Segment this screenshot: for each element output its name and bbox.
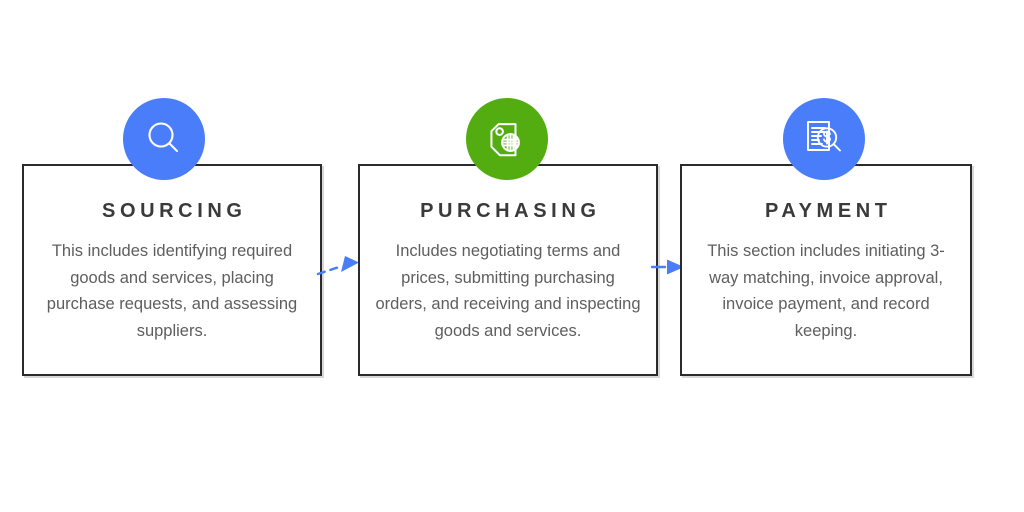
stage-icon-badge-payment: [783, 98, 865, 180]
stage-description: This includes identifying required goods…: [38, 238, 306, 344]
stage-title: PAYMENT: [682, 200, 970, 223]
process-flow-diagram: SOURCING This includes identifying requi…: [0, 0, 1024, 512]
stage-description: Includes negotiating terms and prices, s…: [374, 238, 642, 344]
invoice-search-dollar-icon: [801, 116, 847, 162]
stage-title: SOURCING: [24, 200, 320, 223]
stage-card-sourcing[interactable]: SOURCING This includes identifying requi…: [22, 164, 322, 376]
stage-title: PURCHASING: [360, 200, 656, 223]
stage-icon-badge-purchasing: [466, 98, 548, 180]
stage-icon-badge-sourcing: [123, 98, 205, 180]
stage-card-purchasing[interactable]: PURCHASING Includes negotiating terms an…: [358, 164, 658, 376]
magnifier-icon: [142, 117, 186, 161]
price-tag-icon: [484, 116, 530, 162]
stage-description: This section includes initiating 3-way m…: [696, 238, 956, 344]
stage-card-payment[interactable]: PAYMENT This section includes initiating…: [680, 164, 972, 376]
